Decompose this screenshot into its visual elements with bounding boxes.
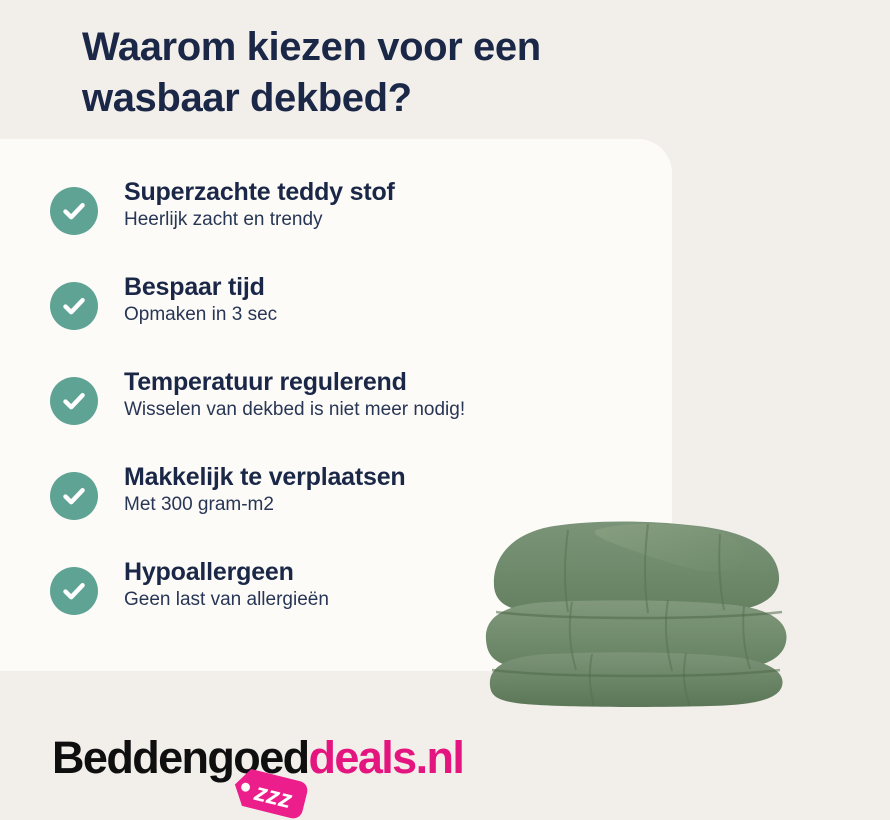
product-image-duvet [472,512,794,708]
check-circle-icon [50,187,98,235]
feature-subtitle: Geen last van allergieën [124,589,329,612]
feature-subtitle: Opmaken in 3 sec [124,304,277,327]
feature-title: Bespaar tijd [124,273,277,302]
feature-title: Temperatuur regulerend [124,368,465,397]
feature-subtitle: Heerlijk zacht en trendy [124,209,395,232]
page-title: Waarom kiezen voor een wasbaar dekbed? [82,22,682,124]
price-tag-icon: zzz [230,767,316,819]
brand-logo[interactable]: Beddengoeddeals.nl zzz [52,735,463,815]
check-circle-icon [50,567,98,615]
feature-title: Hypoallergeen [124,558,329,587]
check-circle-icon [50,282,98,330]
promo-banner: Waarom kiezen voor een wasbaar dekbed? S… [0,0,890,820]
feature-title: Makkelijk te verplaatsen [124,463,405,492]
feature-title: Superzachte teddy stof [124,178,395,207]
check-circle-icon [50,472,98,520]
feature-subtitle: Wisselen van dekbed is niet meer nodig! [124,399,465,422]
logo-text-secondary: deals.nl [309,732,464,783]
list-item: Superzachte teddy stof Heerlijk zacht en… [50,178,650,273]
check-circle-icon [50,377,98,425]
feature-subtitle: Met 300 gram-m2 [124,494,405,517]
list-item: Bespaar tijd Opmaken in 3 sec [50,273,650,368]
list-item: Temperatuur regulerend Wisselen van dekb… [50,368,650,463]
